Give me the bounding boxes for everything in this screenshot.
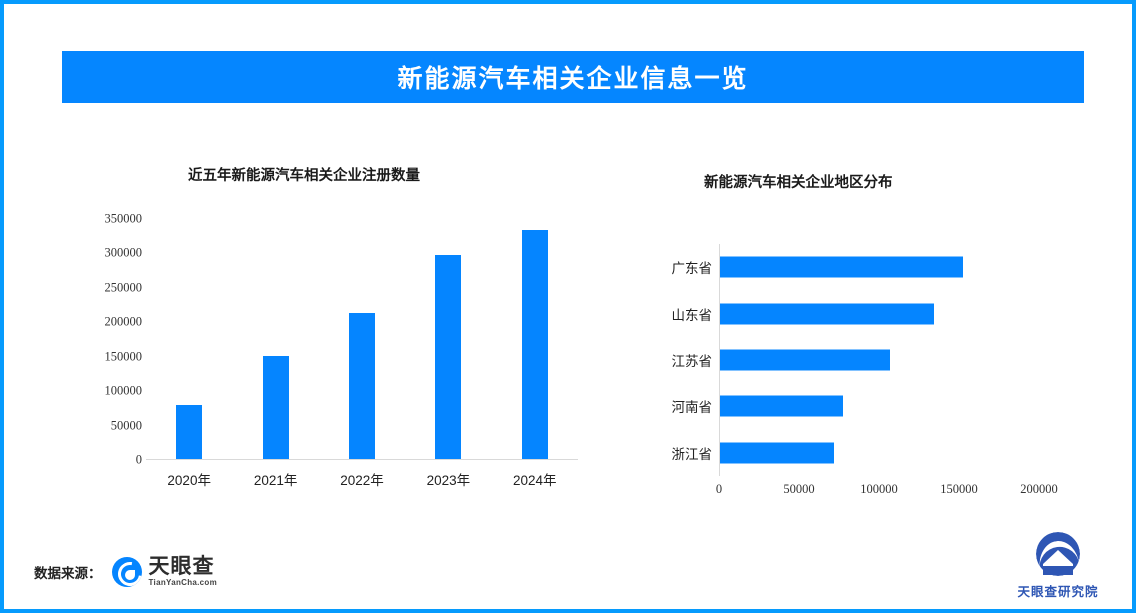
column-chart-y-tick: 350000 [105, 212, 143, 227]
column-chart-y-tick: 300000 [105, 246, 143, 261]
registration-column-chart: 0500001000001500002000002500003000003500… [64, 219, 584, 494]
horizontal-bar [720, 350, 890, 371]
tianyancha-name-cn: 天眼查 [149, 556, 218, 577]
tianyancha-wordmark: 天眼查 TianYanCha.com [149, 556, 218, 587]
institute-logo: 天眼查研究院 [1010, 532, 1106, 600]
column-chart-plot-area [146, 219, 578, 460]
bar-chart-category-label: 山东省 [672, 304, 713, 324]
right-chart-title: 新能源汽车相关企业地区分布 [704, 171, 893, 192]
horizontal-bar [720, 396, 843, 417]
bar-chart-x-axis: 050000100000150000200000 [719, 482, 1039, 504]
data-source-label: 数据来源： [34, 562, 102, 582]
column-bar [349, 313, 375, 459]
column-chart-x-tick: 2021年 [254, 469, 298, 489]
data-source: 数据来源： 天眼查 TianYanCha.com [34, 556, 217, 587]
bar-chart-x-tick: 0 [716, 482, 722, 497]
bar-chart-category-label: 河南省 [672, 396, 713, 416]
bar-chart-plot-area [719, 244, 1039, 476]
left-chart-title: 近五年新能源汽车相关企业注册数量 [188, 164, 420, 185]
bar-chart-x-tick: 150000 [940, 482, 978, 497]
column-chart-x-tick: 2023年 [427, 469, 471, 489]
column-chart-y-tick: 150000 [105, 349, 143, 364]
column-bar [263, 356, 289, 459]
tianyancha-name-en: TianYanCha.com [149, 579, 218, 587]
region-bar-chart: 广东省山东省江苏省河南省浙江省 050000100000150000200000 [634, 244, 1054, 509]
column-bar [176, 405, 202, 459]
bar-chart-category-axis: 广东省山东省江苏省河南省浙江省 [634, 244, 712, 476]
column-chart-y-tick: 0 [136, 453, 142, 468]
column-chart-y-tick: 50000 [111, 418, 142, 433]
horizontal-bar [720, 303, 934, 324]
bar-chart-category-label: 广东省 [672, 257, 713, 277]
column-chart-x-axis: 2020年2021年2022年2023年2024年 [146, 469, 578, 493]
bar-chart-x-tick: 100000 [860, 482, 898, 497]
column-chart-x-tick: 2024年 [513, 469, 557, 489]
bar-chart-x-tick: 50000 [783, 482, 814, 497]
column-chart-y-tick: 250000 [105, 280, 143, 295]
bar-chart-x-tick: 200000 [1020, 482, 1058, 497]
column-chart-y-tick: 200000 [105, 315, 143, 330]
tianyancha-logo: 天眼查 TianYanCha.com [112, 556, 218, 587]
column-chart-x-tick: 2022年 [340, 469, 384, 489]
bar-chart-category-label: 浙江省 [672, 443, 713, 463]
tianyancha-eye-icon [112, 557, 142, 587]
column-chart-y-tick: 100000 [105, 384, 143, 399]
page-frame: 新能源汽车相关企业信息一览 近五年新能源汽车相关企业注册数量 新能源汽车相关企业… [0, 0, 1136, 613]
column-chart-x-tick: 2020年 [167, 469, 211, 489]
column-chart-baseline [146, 459, 578, 460]
institute-name: 天眼查研究院 [1017, 581, 1098, 600]
horizontal-bar [720, 257, 963, 278]
column-bar [435, 255, 461, 460]
bar-chart-category-label: 江苏省 [672, 350, 713, 370]
page-title: 新能源汽车相关企业信息一览 [397, 59, 748, 95]
title-banner: 新能源汽车相关企业信息一览 [62, 51, 1084, 103]
column-chart-y-axis: 0500001000001500002000002500003000003500… [64, 219, 142, 459]
institute-emblem-icon [1032, 532, 1084, 578]
horizontal-bar [720, 442, 834, 463]
column-bar [522, 230, 548, 459]
